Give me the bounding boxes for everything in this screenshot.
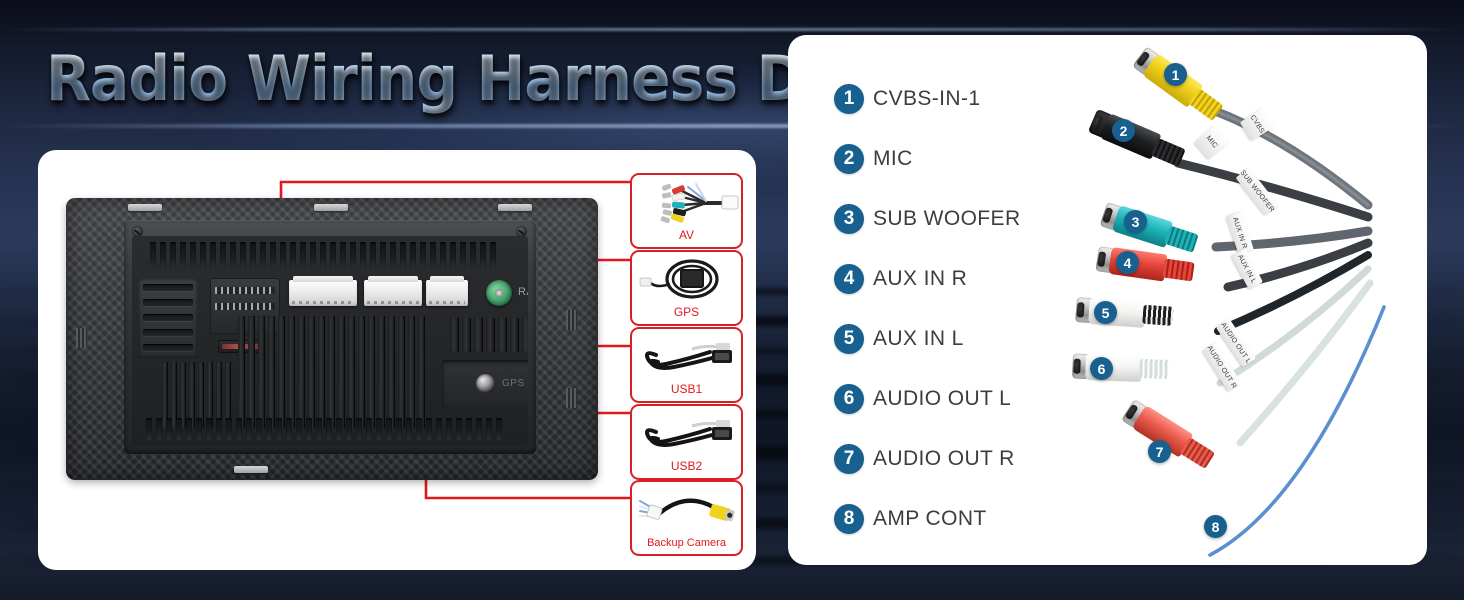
legend-label: AUX IN R xyxy=(873,267,967,291)
legend-label: CVBS-IN-1 xyxy=(873,87,980,111)
radio-antenna-port[interactable] xyxy=(486,280,512,306)
shell-side-rib xyxy=(76,328,87,348)
rca-strain-relief xyxy=(1162,258,1194,281)
harness-number-8: 8 xyxy=(1204,515,1227,538)
diagram-canvas: Radio Wiring Harness Diagram xyxy=(0,0,1464,600)
connector-legend-list: 1 CVBS-IN-1 2 MIC 3 SUB WOOFER 4 AUX IN … xyxy=(834,69,1094,549)
shell-side-rib xyxy=(566,310,577,330)
background-streak-top xyxy=(0,28,1464,31)
legend-label: AUDIO OUT R xyxy=(873,447,1015,471)
legend-item-2: 2 MIC xyxy=(834,129,1094,189)
legend-item-7: 7 AUDIO OUT R xyxy=(834,429,1094,489)
wiring-connector-a[interactable] xyxy=(289,280,357,306)
harness-number-1: 1 xyxy=(1164,63,1187,86)
cable-box-label: GPS xyxy=(632,305,741,319)
speaker-grille-left xyxy=(138,278,198,358)
legend-label: AUDIO OUT L xyxy=(873,387,1011,411)
shell-side-rib xyxy=(566,388,577,408)
legend-label: AUX IN L xyxy=(873,327,964,351)
left-panel-radio-diagram: RADIO xyxy=(38,150,756,570)
legend-item-3: 3 SUB WOOFER xyxy=(834,189,1094,249)
legend-item-1: 1 CVBS-IN-1 xyxy=(834,69,1094,129)
cable-box-usb2[interactable]: USB2 xyxy=(630,404,743,480)
legend-number-badge: 3 xyxy=(834,204,864,234)
radio-port-label: RADIO xyxy=(518,286,528,298)
cable-box-label: USB1 xyxy=(632,382,741,396)
av-cable-icon xyxy=(632,179,741,225)
gps-antenna-port[interactable] xyxy=(476,374,495,393)
wiring-harness-photo: 1 CVBS 2 MIC 3 SUB WOOFER xyxy=(1068,35,1427,565)
backup-camera-cable-icon xyxy=(632,486,741,532)
shell-tab-clip xyxy=(234,466,268,473)
legend-number-badge: 1 xyxy=(834,84,864,114)
legend-number-badge: 8 xyxy=(834,504,864,534)
rca-strain-relief xyxy=(1142,305,1173,326)
harness-number-7: 7 xyxy=(1148,440,1171,463)
gps-port-label: GPS xyxy=(502,378,525,389)
vent-row-bottom xyxy=(146,418,502,440)
legend-number-badge: 4 xyxy=(834,264,864,294)
harness-number-5: 5 xyxy=(1094,301,1117,324)
harness-number-3: 3 xyxy=(1124,210,1147,233)
cable-box-label: AV xyxy=(632,228,741,242)
cable-box-av[interactable]: AV xyxy=(630,173,743,249)
gps-antenna-icon xyxy=(632,256,741,302)
usb-cable-icon xyxy=(632,333,741,379)
wiring-connector-b[interactable] xyxy=(364,280,422,306)
legend-item-6: 6 AUDIO OUT L xyxy=(834,369,1094,429)
legend-number-badge: 6 xyxy=(834,384,864,414)
harness-number-2: 2 xyxy=(1112,119,1135,142)
shell-tab-clip xyxy=(128,204,162,211)
heat-sink-fins-main xyxy=(238,316,425,428)
vent-row-top xyxy=(150,242,496,268)
legend-item-5: 5 AUX IN L xyxy=(834,309,1094,369)
legend-number-badge: 2 xyxy=(834,144,864,174)
vent-block-right xyxy=(450,318,528,352)
legend-number-badge: 7 xyxy=(834,444,864,474)
legend-label: MIC xyxy=(873,147,913,171)
legend-item-4: 4 AUX IN R xyxy=(834,249,1094,309)
cable-box-backup-camera[interactable]: Backup Camera xyxy=(630,480,743,556)
harness-number-6: 6 xyxy=(1090,357,1113,380)
shell-tab-clip xyxy=(314,204,348,211)
cable-box-usb1[interactable]: USB1 xyxy=(630,327,743,403)
legend-label: SUB WOOFER xyxy=(873,207,1021,231)
cable-box-label: Backup Camera xyxy=(632,537,741,549)
rca-strain-relief xyxy=(1139,359,1170,379)
cable-box-gps[interactable]: GPS xyxy=(630,250,743,326)
usb-cable-icon xyxy=(632,410,741,456)
shell-tab-clip xyxy=(498,204,532,211)
harness-number-4: 4 xyxy=(1116,251,1139,274)
wiring-connector-c[interactable] xyxy=(426,280,468,306)
legend-label: AMP CONT xyxy=(873,507,987,531)
radio-rear-bay: RADIO xyxy=(132,236,528,446)
right-panel-connector-legend: 1 CVBS-IN-1 2 MIC 3 SUB WOOFER 4 AUX IN … xyxy=(788,35,1427,565)
cable-box-label: USB2 xyxy=(632,459,741,473)
legend-item-8: 8 AMP CONT xyxy=(834,489,1094,549)
radio-head-unit-rear: RADIO xyxy=(66,198,598,480)
legend-number-badge: 5 xyxy=(834,324,864,354)
